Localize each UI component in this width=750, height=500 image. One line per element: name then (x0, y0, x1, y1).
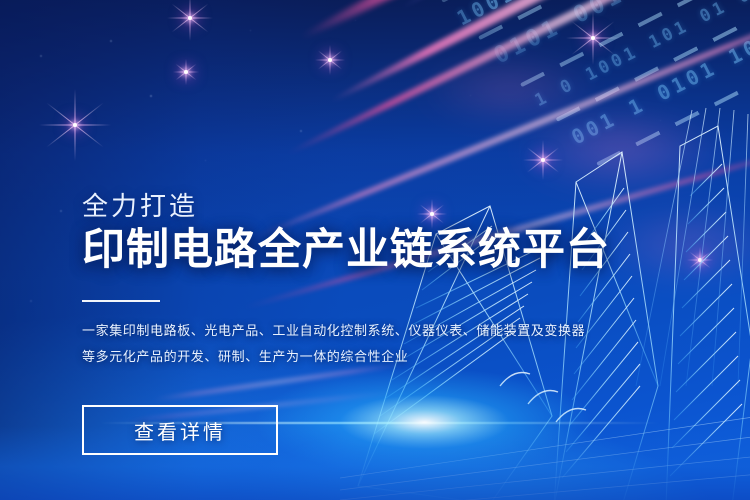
hero-banner: 1001001 101 001 0 1101 1001001 101 001 0… (0, 0, 750, 500)
description-line-1: 一家集印制电路板、光电产品、工业自动化控制系统、仪器仪表、储能装置及变换器 (82, 318, 642, 344)
description-text: 一家集印制电路板、光电产品、工业自动化控制系统、仪器仪表、储能装置及变换器 等多… (82, 318, 642, 370)
eyebrow-text: 全力打造 (82, 186, 642, 223)
view-details-button[interactable]: 查看详情 (82, 405, 278, 455)
hero-copy: 全力打造 印制电路全产业链系统平台 一家集印制电路板、光电产品、工业自动化控制系… (82, 186, 642, 370)
page-title: 印制电路全产业链系统平台 (82, 227, 642, 274)
description-line-2: 等多元化产品的开发、研制、生产为一体的综合性企业 (82, 344, 642, 370)
title-divider (82, 300, 160, 302)
